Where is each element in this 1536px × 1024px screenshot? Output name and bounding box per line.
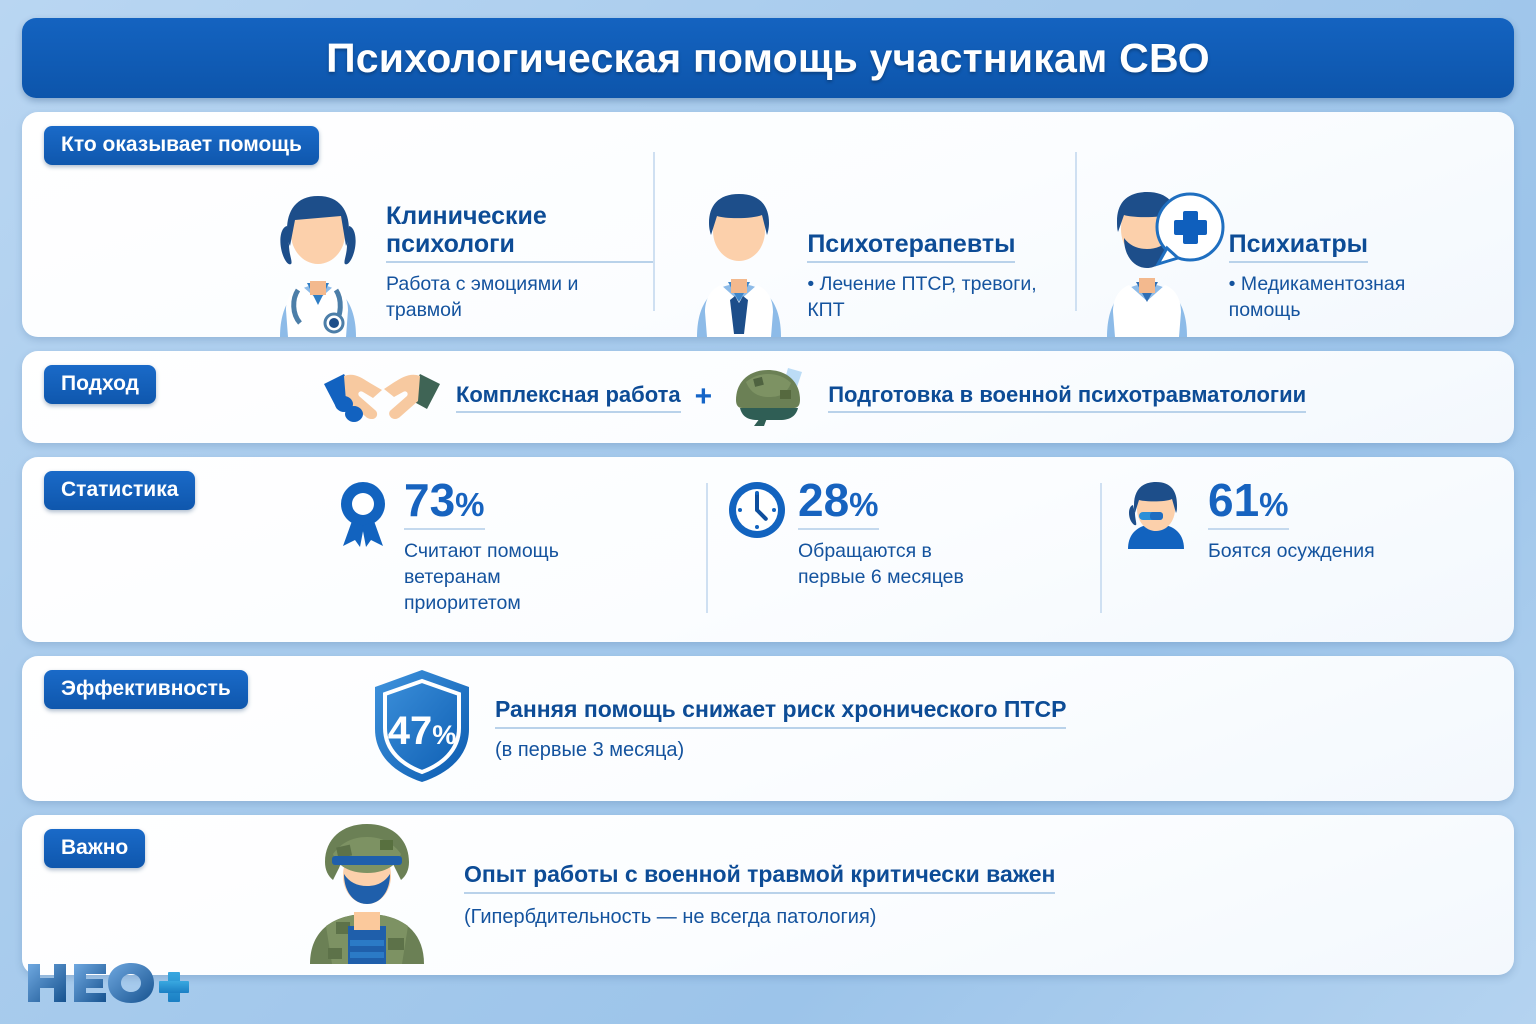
provider-text-2: Психотерапевты • Лечение ПТСР, тревоги, … [807, 230, 1037, 337]
important-subtitle: (Гипербдительность — не всегда патология… [464, 906, 1055, 929]
section-effectiveness: Эффективность 47% [22, 656, 1514, 801]
provider-detail: Работа с эмоциями и травмой [386, 272, 616, 323]
provider-title: Психотерапевты [807, 230, 1015, 263]
bullet-marker: • [807, 273, 814, 295]
provider-clinical-psychologists: Клинические психологи Работа с эмоциями … [232, 126, 653, 337]
stat-text-28: 28% Обращаются в первые 6 месяцев [798, 479, 993, 642]
section-who-provides-help: Кто оказывает помощь [22, 112, 1514, 337]
clock-icon [726, 479, 788, 545]
psychiatrist-icon [1093, 182, 1229, 337]
handshake-icon [322, 362, 442, 433]
award-ribbon-icon [332, 479, 394, 545]
stat-text-61: 61% Боятся осуждения [1208, 479, 1375, 642]
stat-item-61: 61% Боятся осуждения [1100, 479, 1494, 642]
shield-icon: 47% [367, 667, 477, 790]
important-title: Опыт работы с военной травмой критически… [464, 861, 1055, 894]
section-important: Важно [22, 815, 1514, 975]
provider-title: Психиатры [1229, 230, 1368, 263]
stat-item-73: 73% Считают помощь ветеранам приоритетом [312, 479, 706, 642]
stat-caption: Обращаются в первые 6 месяцев [798, 539, 993, 591]
provider-psychiatrists: Психиатры • Медикаментозная помощь [1075, 126, 1496, 337]
providers-list: Клинические психологи Работа с эмоциями … [22, 112, 1514, 337]
stat-number: 73 [404, 474, 455, 526]
section-chip-effectiveness: Эффективность [44, 670, 248, 709]
provider-detail: • Лечение ПТСР, тревоги, КПТ [807, 272, 1037, 323]
stat-unit: % [849, 486, 878, 523]
stat-value: 73% [404, 479, 485, 530]
approach-row: Комплексная работа + Подготовка в военно… [22, 351, 1514, 443]
plus-sign: + [695, 380, 713, 414]
important-text: Опыт работы с военной травмой критически… [464, 861, 1055, 929]
provider-detail-text: Медикаментозная помощь [1229, 273, 1406, 320]
shield-number: 47 [388, 709, 433, 753]
infographic-page: Психологическая помощь участникам СВО Кт… [0, 0, 1536, 1024]
header-banner: Психологическая помощь участникам СВО [22, 18, 1514, 98]
important-row: Опыт работы с военной травмой критически… [22, 815, 1514, 975]
soldier-icon [292, 822, 442, 969]
female-psychologist-icon [250, 182, 386, 337]
stat-text-73: 73% Считают помощь ветеранам приоритетом [404, 479, 569, 642]
stat-caption: Боятся осуждения [1208, 539, 1375, 565]
military-helmet-icon [726, 364, 814, 431]
stat-number: 61 [1208, 474, 1259, 526]
page-title: Психологическая помощь участникам СВО [326, 35, 1210, 82]
approach-second-label: Подготовка в военной психотравматологии [828, 382, 1306, 413]
provider-title: Клинические психологи [386, 202, 653, 263]
provider-detail-text: Лечение ПТСР, тревоги, КПТ [807, 273, 1036, 320]
effectiveness-title: Ранняя помощь снижает риск хронического … [495, 696, 1066, 729]
provider-text-1: Клинические психологи Работа с эмоциями … [386, 202, 653, 337]
neo-plus-logo: НЕО+ [26, 960, 196, 1006]
section-approach: Подход Комплексная работа + [22, 351, 1514, 443]
provider-detail: • Медикаментозная помощь [1229, 272, 1459, 323]
section-chip-statistics: Статистика [44, 471, 195, 510]
effectiveness-subtitle: (в первые 3 месяца) [495, 739, 1066, 762]
silenced-person-icon [1120, 479, 1198, 545]
stat-unit: % [455, 486, 484, 523]
provider-text-3: Психиатры • Медикаментозная помощь [1229, 230, 1459, 337]
stat-value: 28% [798, 479, 879, 530]
stat-item-28: 28% Обращаются в первые 6 месяцев [706, 479, 1100, 642]
stat-unit: % [1259, 486, 1288, 523]
provider-psychotherapists: Психотерапевты • Лечение ПТСР, тревоги, … [653, 126, 1074, 337]
shield-unit: % [432, 720, 456, 750]
section-statistics: Статистика 73% Считают помощь ветеранам … [22, 457, 1514, 642]
male-therapist-icon [671, 182, 807, 337]
statistics-list: 73% Считают помощь ветеранам приоритетом [22, 457, 1514, 642]
section-chip-important: Важно [44, 829, 145, 868]
bullet-marker: • [1229, 273, 1236, 295]
stat-value: 61% [1208, 479, 1289, 530]
effectiveness-text: Ранняя помощь снижает риск хронического … [495, 696, 1066, 762]
stat-caption: Считают помощь ветеранам приоритетом [404, 539, 569, 617]
stat-number: 28 [798, 474, 849, 526]
section-chip-approach: Подход [44, 365, 156, 404]
approach-first-label: Комплексная работа [456, 382, 681, 413]
